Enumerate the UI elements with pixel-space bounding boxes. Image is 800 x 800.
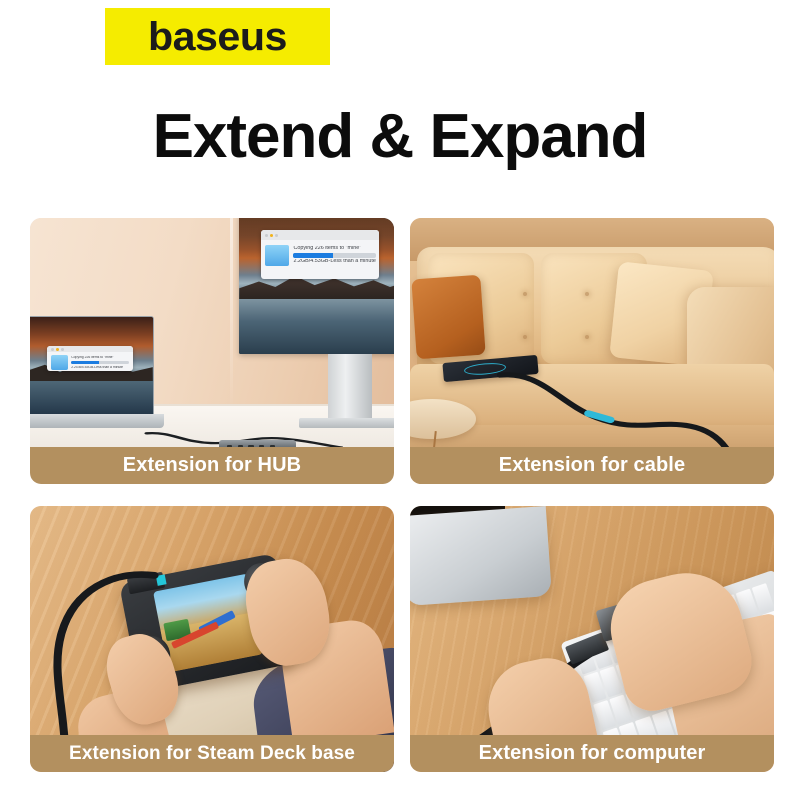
- panel-computer: Extension for computer: [410, 506, 774, 772]
- laptop-dialog-detail: 2.2GB/4.53GB-Less than a minute: [71, 366, 129, 369]
- dialog-title: Copying 226 items to "mine": [293, 246, 375, 251]
- panel-caption-steam-deck: Extension for Steam Deck base: [30, 735, 394, 772]
- zoom-dot-icon: [61, 348, 64, 351]
- orange-pillow: [411, 274, 486, 358]
- photo-hub-desk-setup: Copying 226 items to "mine" 2.2GB/4.53GB…: [30, 218, 394, 484]
- marketing-banner: baseus Extend & Expand: [0, 0, 800, 800]
- panel-caption-cable: Extension for cable: [410, 447, 774, 484]
- dialog-titlebar: [261, 230, 379, 241]
- laptop-progress-bar: [71, 361, 129, 364]
- laptop-copy-dialog: Copying 226 items to "mine" 2.2GB/4.53GB…: [47, 346, 132, 371]
- wallpaper-water: [239, 299, 394, 354]
- laptop-dialog-body: Copying 226 items to "mine" 2.2GB/4.53GB…: [47, 352, 132, 372]
- photo-sofa-charging: [410, 218, 774, 484]
- panel-steam-deck: Extension for Steam Deck base: [30, 506, 394, 772]
- dialog-detail: 2.2GB/4.53GB-Less than a minute: [293, 259, 375, 264]
- panel-caption-computer: Extension for computer: [410, 735, 774, 772]
- minimize-dot-icon: [56, 348, 59, 351]
- photo-steam-deck: [30, 506, 394, 772]
- monitor-stand: [328, 354, 372, 423]
- caption-text: Extension for cable: [499, 454, 685, 477]
- panel-caption-hub: Extension for HUB: [30, 447, 394, 484]
- panel-hub: Copying 226 items to "mine" 2.2GB/4.53GB…: [30, 218, 394, 484]
- caption-text: Extension for HUB: [123, 454, 301, 477]
- caption-text: Extension for computer: [479, 742, 706, 765]
- progress-bar: [293, 253, 375, 257]
- folder-icon: [51, 355, 68, 370]
- folder-icon: [265, 245, 289, 266]
- laptop-keyboard-base: [30, 414, 164, 429]
- baseus-logo: baseus: [105, 8, 330, 65]
- caption-text: Extension for Steam Deck base: [69, 743, 355, 765]
- close-dot-icon: [265, 234, 268, 237]
- laptop: Copying 226 items to "mine" 2.2GB/4.53GB…: [30, 316, 154, 428]
- imac-stand-base: [410, 506, 551, 606]
- zoom-dot-icon: [275, 234, 278, 237]
- copy-progress-dialog: Copying 226 items to "mine" 2.2GB/4.53GB…: [261, 230, 379, 279]
- logo-wordmark: baseus: [148, 17, 287, 57]
- minimize-dot-icon: [270, 234, 273, 237]
- dialog-body: Copying 226 items to "mine" 2.2GB/4.53GB…: [261, 240, 379, 269]
- wall-edge: [230, 218, 233, 410]
- page-title: Extend & Expand: [0, 104, 800, 169]
- close-dot-icon: [51, 348, 54, 351]
- laptop-screen: Copying 226 items to "mine" 2.2GB/4.53GB…: [30, 316, 154, 414]
- panel-cable: Extension for cable: [410, 218, 774, 484]
- feature-grid: Copying 226 items to "mine" 2.2GB/4.53GB…: [30, 218, 774, 772]
- photo-usb-drive: [410, 506, 774, 772]
- monitor-base: [299, 418, 394, 429]
- external-monitor: Copying 226 items to "mine" 2.2GB/4.53GB…: [239, 218, 394, 354]
- laptop-dialog-text-block: Copying 226 items to "mine" 2.2GB/4.53GB…: [71, 355, 129, 370]
- dialog-text-block: Copying 226 items to "mine" 2.2GB/4.53GB…: [293, 245, 375, 266]
- laptop-dialog-title: Copying 226 items to "mine": [71, 356, 129, 359]
